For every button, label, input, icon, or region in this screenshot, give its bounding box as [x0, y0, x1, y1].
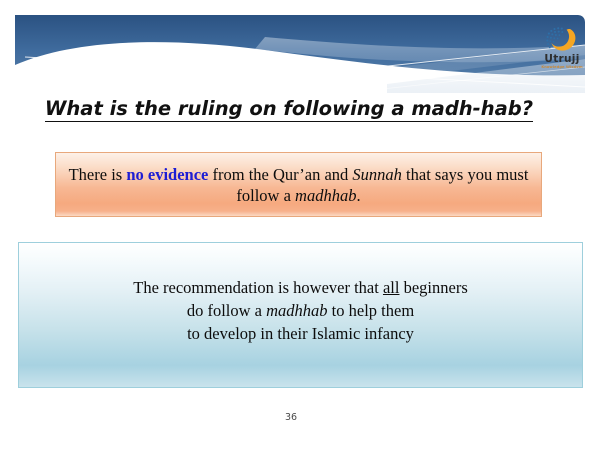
crescent-logo-icon: [544, 26, 578, 56]
header-wave-graphic: [15, 15, 585, 93]
orange-seg-highlight: no evidence: [126, 165, 208, 184]
orange-seg-6: .: [356, 186, 360, 205]
slide-title-text: What is the ruling on following a madh-h…: [45, 97, 533, 122]
no-evidence-callout-box: There is no evidence from the Qur’an and…: [55, 152, 542, 217]
no-evidence-callout-text: There is no evidence from the Qur’an and…: [64, 164, 534, 206]
page-number: 36: [0, 412, 582, 423]
rec-line2-italic: madhhab: [266, 301, 327, 320]
slide-title: What is the ruling on following a madh-h…: [0, 97, 578, 120]
rec-line1-pre: The recommendation is however that: [133, 278, 383, 297]
logo-tagline: Knowledge Wisdom: [536, 65, 588, 69]
orange-seg-2: from the Qur’an and: [208, 165, 352, 184]
slide-canvas: Utrujj Knowledge Wisdom What is the ruli…: [0, 0, 600, 450]
orange-seg-sunnah: Sunnah: [352, 165, 402, 184]
recommendation-callout-box: The recommendation is however that all b…: [18, 242, 583, 388]
rec-line2-post: to help them: [328, 301, 415, 320]
recommendation-callout-text: The recommendation is however that all b…: [19, 276, 582, 345]
recommendation-line-3: to develop in their Islamic infancy: [19, 322, 582, 345]
rec-line1-underlined: all: [383, 278, 400, 297]
orange-seg-madhhab: madhhab: [295, 186, 356, 205]
utrujj-logo: Utrujj Knowledge Wisdom: [536, 26, 588, 74]
recommendation-line-1: The recommendation is however that all b…: [19, 276, 582, 299]
header-banner: [15, 15, 585, 93]
rec-line1-post: beginners: [399, 278, 467, 297]
logo-wordmark: Utrujj: [536, 54, 588, 65]
orange-seg-0: There is: [69, 165, 127, 184]
recommendation-line-2: do follow a madhhab to help them: [19, 299, 582, 322]
rec-line2-pre: do follow a: [187, 301, 266, 320]
